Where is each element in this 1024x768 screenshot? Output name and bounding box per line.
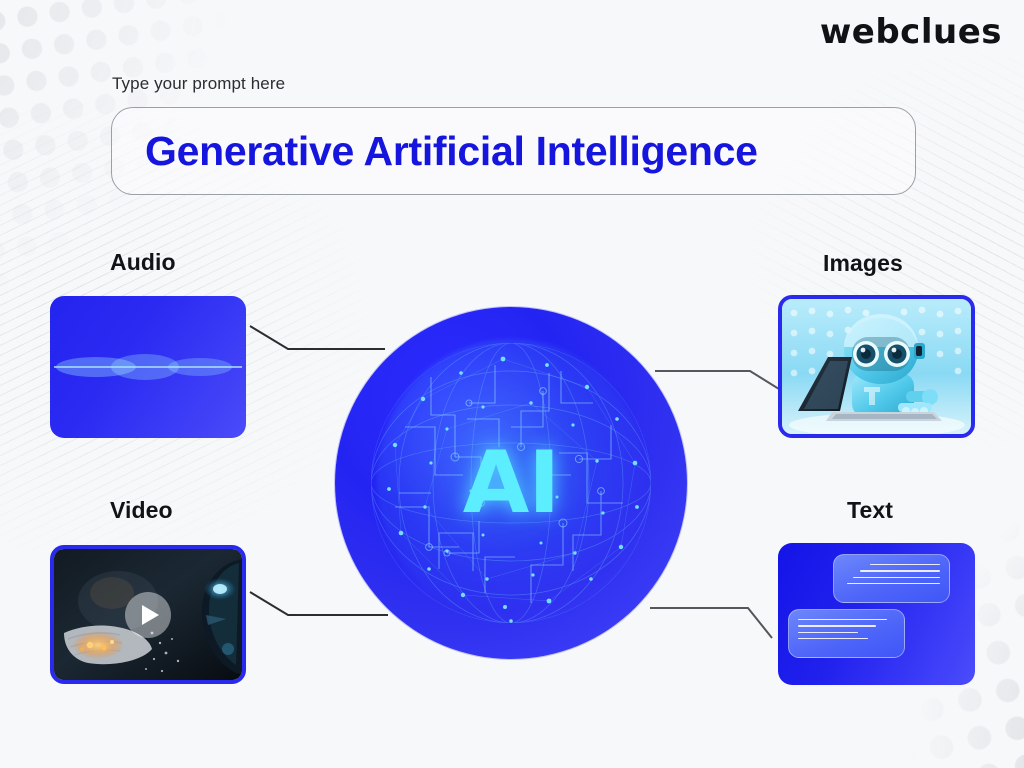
category-label-text: Text [847,497,893,524]
chat-bubble-outgoing [833,554,950,603]
play-button[interactable] [125,592,171,638]
media-card-audio[interactable] [50,296,246,438]
robot-image [782,299,971,434]
prompt-value: Generative Artificial Intelligence [145,128,758,175]
bubble-line [870,564,940,565]
media-card-video[interactable] [50,545,246,684]
bubble-line [798,625,876,626]
webclues-logo: webclues [820,12,1002,52]
ai-core-sphere[interactable]: AI [335,307,687,659]
chat-bubble-incoming [788,609,905,658]
bubble-line [860,570,940,571]
prompt-label: Type your prompt here [112,74,285,94]
category-label-audio: Audio [110,249,176,276]
audio-waveform-icon [50,296,246,438]
play-icon [142,605,159,625]
category-label-video: Video [110,497,173,524]
bubble-line [798,632,858,633]
bubble-line [798,638,868,639]
ai-core-label: AI [335,440,687,526]
bubble-line [847,583,940,584]
prompt-input[interactable]: Generative Artificial Intelligence [111,107,916,195]
media-card-text[interactable] [778,543,975,685]
bubble-line [853,577,940,578]
infographic-canvas: webclues Type your prompt here Generativ… [0,0,1024,768]
media-card-images[interactable] [778,295,975,438]
category-label-images: Images [823,250,903,277]
bubble-line [798,619,887,620]
